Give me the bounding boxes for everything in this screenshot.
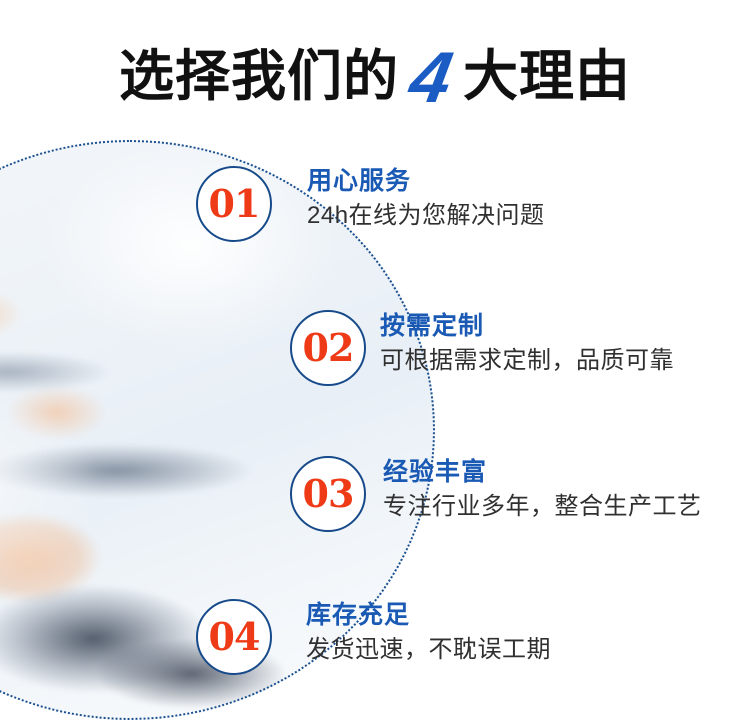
reason-item-01: 用心服务 24h在线为您解决问题 <box>307 166 545 231</box>
number-badge-label: 02 <box>303 329 354 367</box>
title-prefix: 选择我们的 <box>119 49 399 104</box>
reason-item-03: 经验丰富 专注行业多年，整合生产工艺 <box>383 457 702 522</box>
title-suffix: 大理由 <box>463 49 631 104</box>
number-badge-02: 02 <box>290 310 366 386</box>
reason-body: 可根据需求定制，品质可靠 <box>380 346 674 377</box>
number-badge-04: 04 <box>196 599 272 675</box>
promo-poster: 选择我们的 4 大理由 01 02 03 04 用心服务 24h在线为您解决问题… <box>0 0 750 721</box>
reason-heading: 库存充足 <box>306 600 551 631</box>
number-badge-label: 04 <box>209 618 260 656</box>
reason-item-04: 库存充足 发货迅速，不耽误工期 <box>306 600 551 665</box>
reason-heading: 用心服务 <box>307 166 545 197</box>
number-badge-03: 03 <box>290 456 366 532</box>
reason-item-02: 按需定制 可根据需求定制，品质可靠 <box>380 311 674 376</box>
reason-body: 专注行业多年，整合生产工艺 <box>383 492 702 523</box>
reason-heading: 经验丰富 <box>383 457 702 488</box>
reason-body: 24h在线为您解决问题 <box>307 201 545 232</box>
number-badge-01: 01 <box>196 166 272 242</box>
reason-heading: 按需定制 <box>380 311 674 342</box>
number-badge-label: 01 <box>209 185 260 223</box>
page-title: 选择我们的 4 大理由 <box>0 38 750 114</box>
reason-body: 发货迅速，不耽误工期 <box>306 635 551 666</box>
number-badge-label: 03 <box>303 475 354 513</box>
title-number: 4 <box>393 42 470 114</box>
